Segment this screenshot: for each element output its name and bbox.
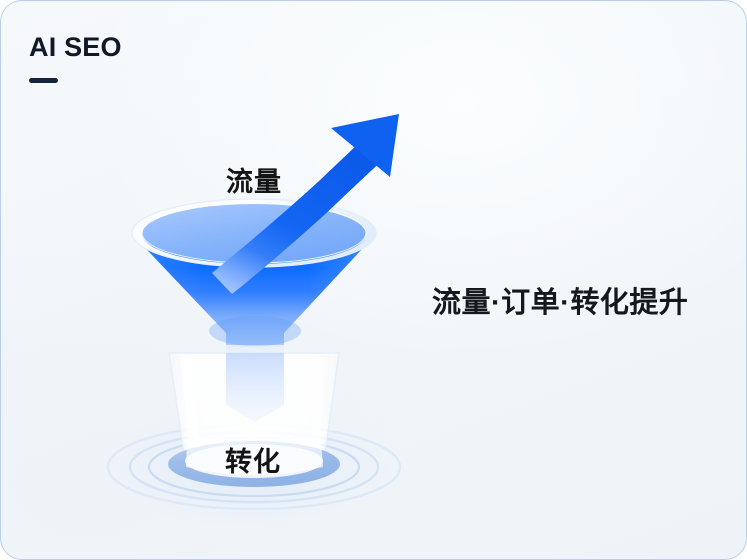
funnel-label-traffic: 流量 bbox=[226, 160, 282, 199]
title-underline-rule bbox=[29, 78, 58, 83]
brand-block: AI SEO bbox=[29, 34, 329, 83]
tagline-text: 流量·订单·转化提升 bbox=[432, 279, 688, 321]
page-title: AI SEO bbox=[29, 34, 329, 61]
ai-seo-funnel-card: AI SEO 流量 转化 流量·订单·转化提升 bbox=[0, 0, 747, 560]
funnel-label-conversion: 转化 bbox=[225, 440, 281, 479]
